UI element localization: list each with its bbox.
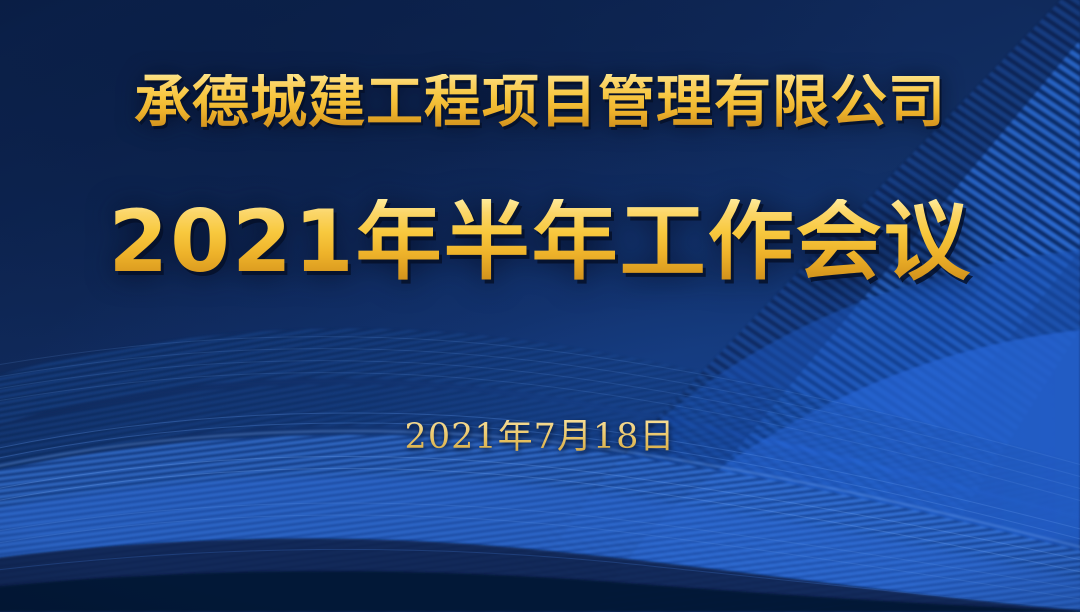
company-name-heading: 承德城建工程项目管理有限公司 — [0, 74, 1080, 131]
conference-poster: 承德城建工程项目管理有限公司 2021年半年工作会议 2021年7月18日 — [0, 0, 1080, 612]
poster-content: 承德城建工程项目管理有限公司 2021年半年工作会议 2021年7月18日 — [0, 0, 1080, 612]
event-date-text: 2021年7月18日 — [0, 420, 1080, 455]
meeting-title-heading: 2021年半年工作会议 — [0, 199, 1080, 285]
